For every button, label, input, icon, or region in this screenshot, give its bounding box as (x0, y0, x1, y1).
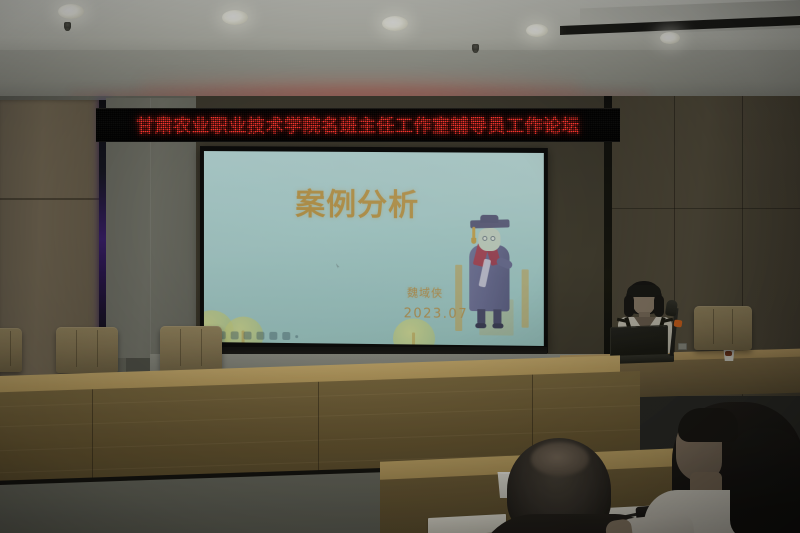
ceiling-downlight-5 (660, 32, 680, 44)
ceiling-sprinkler-1 (64, 22, 71, 31)
presenter-hair-left (624, 295, 634, 317)
microphone-indicator-icon (674, 319, 683, 327)
ceiling-downlight-3 (382, 16, 408, 31)
presentation-photo-scene: 甘肃农业职业技术学院名班主任工作室辅导员工作论坛 (0, 0, 800, 533)
audience-woman-foreground (672, 398, 800, 533)
man-bald-spot (531, 442, 589, 476)
woman-hair-fringe (678, 408, 738, 442)
ceiling-downlight-4 (526, 24, 548, 37)
projection-screen: 案例分析 魏域侠 2023.07 (200, 146, 548, 353)
led-banner-text: 甘肃农业职业技术学院名班主任工作室辅导员工作论坛 (136, 112, 580, 138)
woman-hair-front (730, 428, 800, 533)
projected-slide: 案例分析 魏域侠 2023.07 (204, 151, 544, 346)
microphone-head[interactable] (665, 299, 678, 316)
chair-back-1[interactable] (0, 328, 22, 372)
ceiling-downlight-1 (58, 4, 84, 19)
cup-logo (725, 351, 732, 356)
chair-back-3[interactable] (160, 326, 222, 373)
ceiling-sprinkler-2 (472, 44, 479, 53)
ceiling-downlight-2 (222, 10, 248, 25)
chair-back-4[interactable] (694, 306, 752, 350)
screen-light-veil (204, 151, 544, 346)
chair-back-2[interactable] (56, 327, 118, 373)
presenter-hair-right (654, 295, 664, 317)
audience-man-foreground (497, 438, 621, 533)
led-marquee-banner: 甘肃农业职业技术学院名班主任工作室辅导员工作论坛 (96, 108, 620, 142)
